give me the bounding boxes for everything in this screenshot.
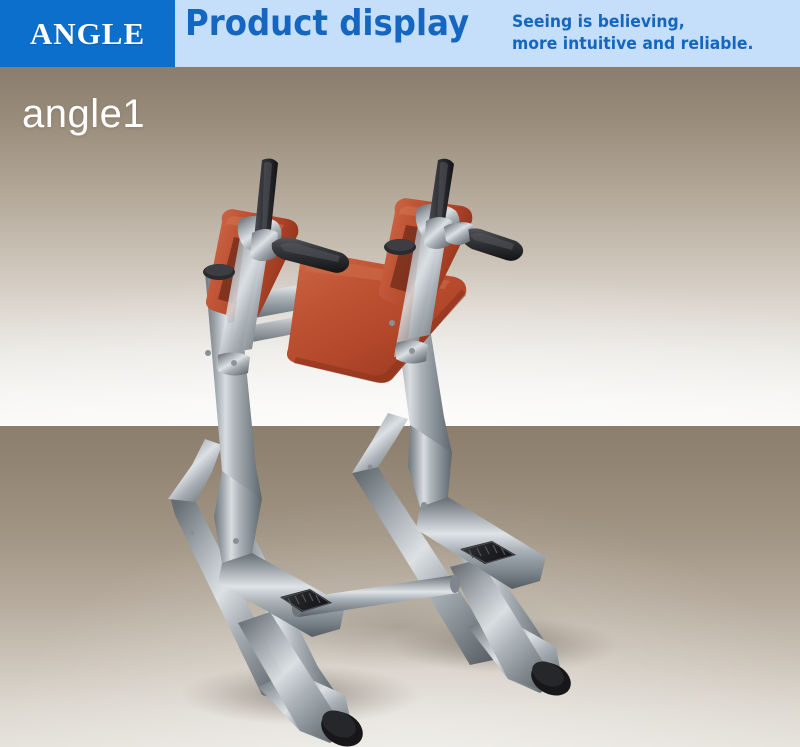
tagline-line-2: more intuitive and reliable.	[512, 34, 753, 56]
brand-logo-block: ANGLE	[0, 0, 175, 67]
page-header-banner: ANGLE Product display Seeing is believin…	[0, 0, 800, 67]
upright-collar-left	[203, 264, 235, 280]
brand-logo-text: ANGLE	[30, 18, 145, 49]
product-photo: angle1	[0, 67, 800, 747]
banner-tagline: Seeing is believing, more intuitive and …	[512, 12, 753, 56]
tagline-line-1: Seeing is believing,	[512, 12, 753, 34]
page-title: Product display	[185, 6, 469, 42]
horizontal-grip-right	[444, 222, 523, 261]
gym-machine-illustration	[0, 67, 800, 747]
upright-collar-right	[384, 239, 416, 255]
product-display-page: ANGLE Product display Seeing is believin…	[0, 0, 800, 747]
